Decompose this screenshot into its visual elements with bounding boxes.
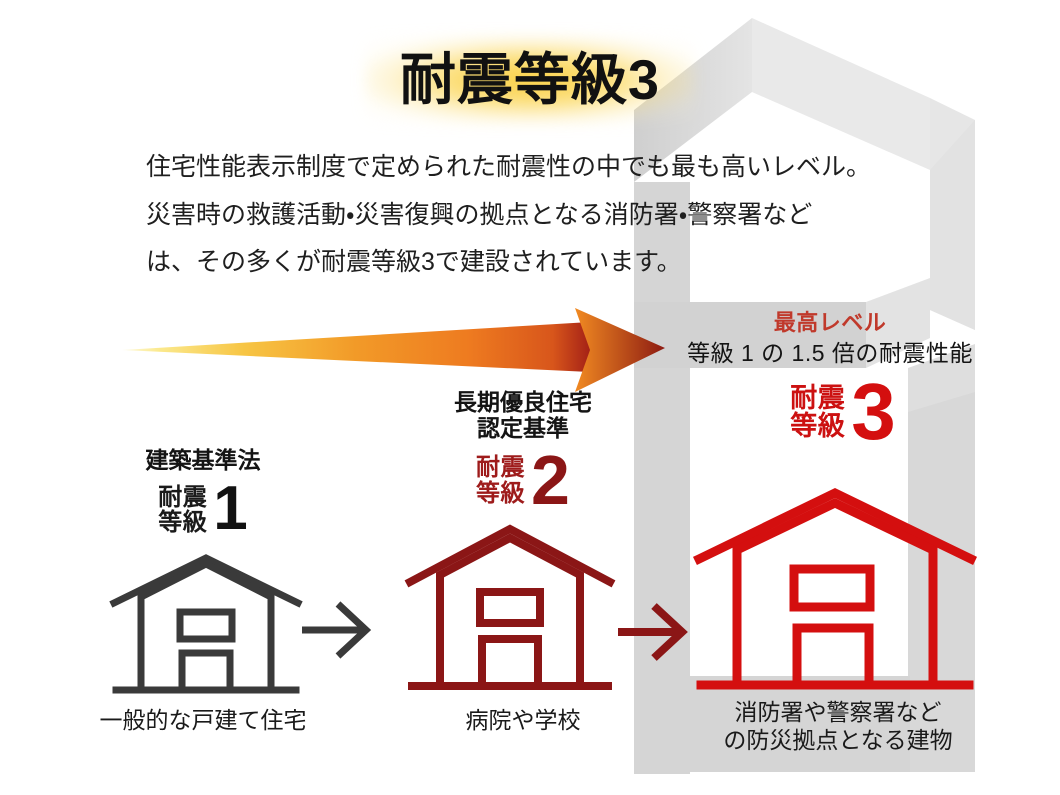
lead-paragraph: 住宅性能表示制度で定められた耐震性の中でも最も高いレベル。 災害時の救護活動・災… — [146, 152, 946, 295]
grade-2-label-group: 長期優良住宅 認定基準 耐震 等級 2 — [398, 389, 648, 510]
caption-grade-1: 一般的な戸建て住宅 — [78, 706, 328, 734]
grade-3-kanji: 耐震 等級 — [790, 384, 845, 441]
grade-3-kanji-line-1: 耐震 — [790, 384, 845, 412]
caption-grade-3-line-1: 消防署や警察署など — [703, 698, 973, 726]
grade-2-kanji-line-2: 等級 — [476, 481, 525, 506]
grade-2-heading: 長期優良住宅 — [398, 389, 648, 415]
grade-3-label-group: 耐震 等級 3 — [718, 378, 968, 446]
grade-1-label-group: 建築基準法 耐震 等級 1 — [78, 447, 328, 536]
max-level-annotation: 最高レベル 等級 1 の 1.5 倍の耐震性能 — [665, 310, 995, 367]
house-icon-grade-1 — [108, 550, 304, 696]
page-title: 耐震等級3 — [0, 52, 1060, 108]
lead-line-3: は、その多くが耐震等級3で建設されています。 — [146, 247, 946, 278]
caption-grade-1-line-1: 一般的な戸建て住宅 — [78, 706, 328, 734]
caption-grade-3: 消防署や警察署など の防災拠点となる建物 — [703, 698, 973, 754]
caption-grade-2: 病院や学校 — [398, 706, 648, 734]
grade-3-number: 3 — [851, 378, 896, 446]
house-icon-grade-3 — [692, 485, 978, 693]
caption-grade-2-line-1: 病院や学校 — [398, 706, 648, 734]
grade-3-kanji-line-2: 等級 — [790, 412, 845, 440]
grade-1-kanji-line-1: 耐震 — [158, 485, 207, 510]
grade-2-number: 2 — [531, 451, 570, 511]
annotation-headline: 最高レベル — [665, 310, 995, 336]
arrow-right-icon-step-1 — [298, 596, 380, 662]
title-block: 耐震等級3 — [0, 52, 1060, 108]
annotation-detail: 等級 1 の 1.5 倍の耐震性能 — [665, 340, 995, 367]
grade-1-kanji: 耐震 等級 — [158, 485, 207, 535]
grade-1-number: 1 — [213, 483, 247, 536]
grade-2-kanji-line-1: 耐震 — [476, 455, 525, 480]
grade-2-badge: 耐震 等級 2 — [398, 451, 648, 511]
grade-2-heading-line-2: 認定基準 — [398, 415, 648, 441]
lead-line-1: 住宅性能表示制度で定められた耐震性の中でも最も高いレベル。 — [146, 152, 946, 183]
grade-3-badge: 耐震 等級 3 — [718, 378, 968, 446]
grade-1-badge: 耐震 等級 1 — [78, 483, 328, 536]
grade-1-kanji-line-2: 等級 — [158, 510, 207, 535]
caption-grade-3-line-2: の防災拠点となる建物 — [703, 726, 973, 754]
lead-line-2: 災害時の救護活動・災害復興の拠点となる消防署・警察署など — [146, 200, 946, 231]
grade-1-heading: 建築基準法 — [78, 447, 328, 473]
gradient-arrow-right-icon — [120, 300, 690, 400]
house-icon-grade-2 — [404, 521, 616, 693]
infographic-canvas: 耐震等級3 住宅性能表示制度で定められた耐震性の中でも最も高いレベル。 災害時の… — [0, 0, 1060, 795]
grade-2-kanji: 耐震 等級 — [476, 455, 525, 505]
arrow-right-icon-step-2 — [614, 598, 696, 664]
